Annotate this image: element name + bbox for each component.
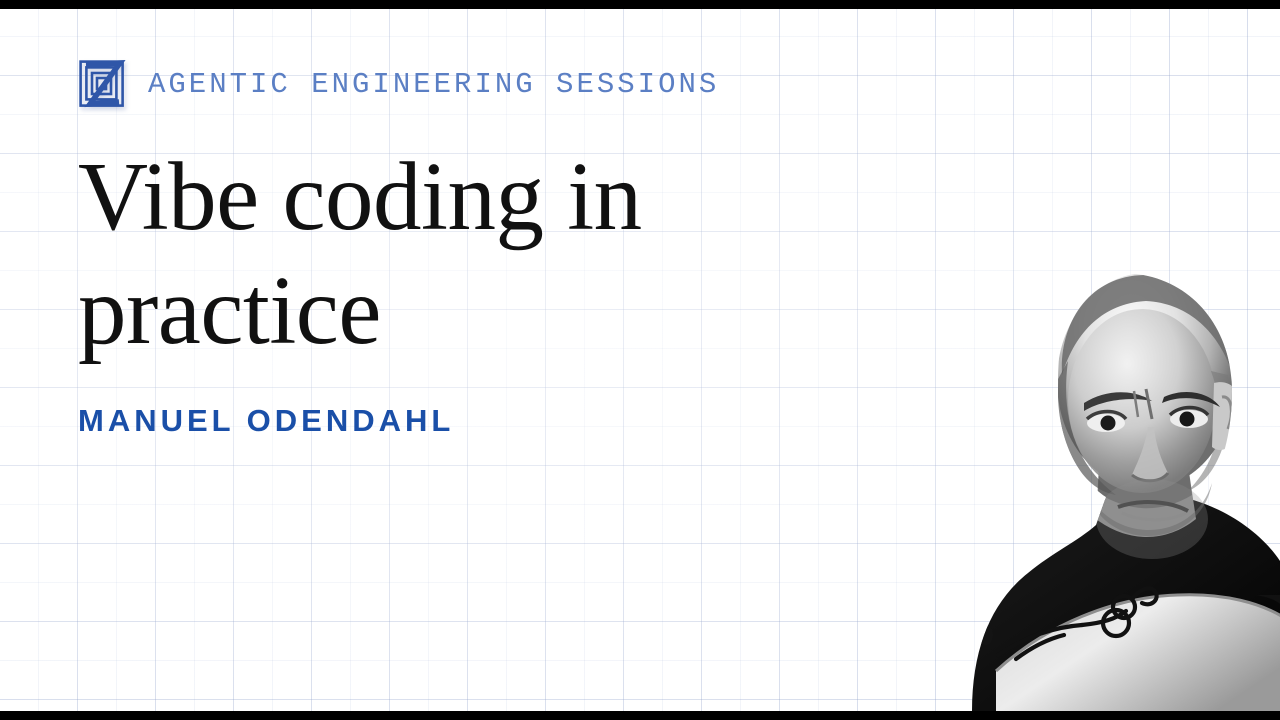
series-kicker-row: AGENTIC ENGINEERING SESSIONS [78,56,898,112]
slide-content: AGENTIC ENGINEERING SESSIONS Vibe coding… [78,56,898,436]
z-spiral-logo-icon [78,59,126,109]
title-slide: AGENTIC ENGINEERING SESSIONS Vibe coding… [0,0,1280,720]
speaker-name: MANUEL ODENDAHL [78,405,898,436]
letterbox-bar-bottom [0,711,1280,720]
letterbox-bar-top [0,0,1280,9]
series-kicker-label: AGENTIC ENGINEERING SESSIONS [148,70,719,99]
page-title-line-1: Vibe coding in [78,140,718,254]
page-title-line-2: practice [78,254,718,368]
page-title: Vibe coding in practice [78,140,718,369]
